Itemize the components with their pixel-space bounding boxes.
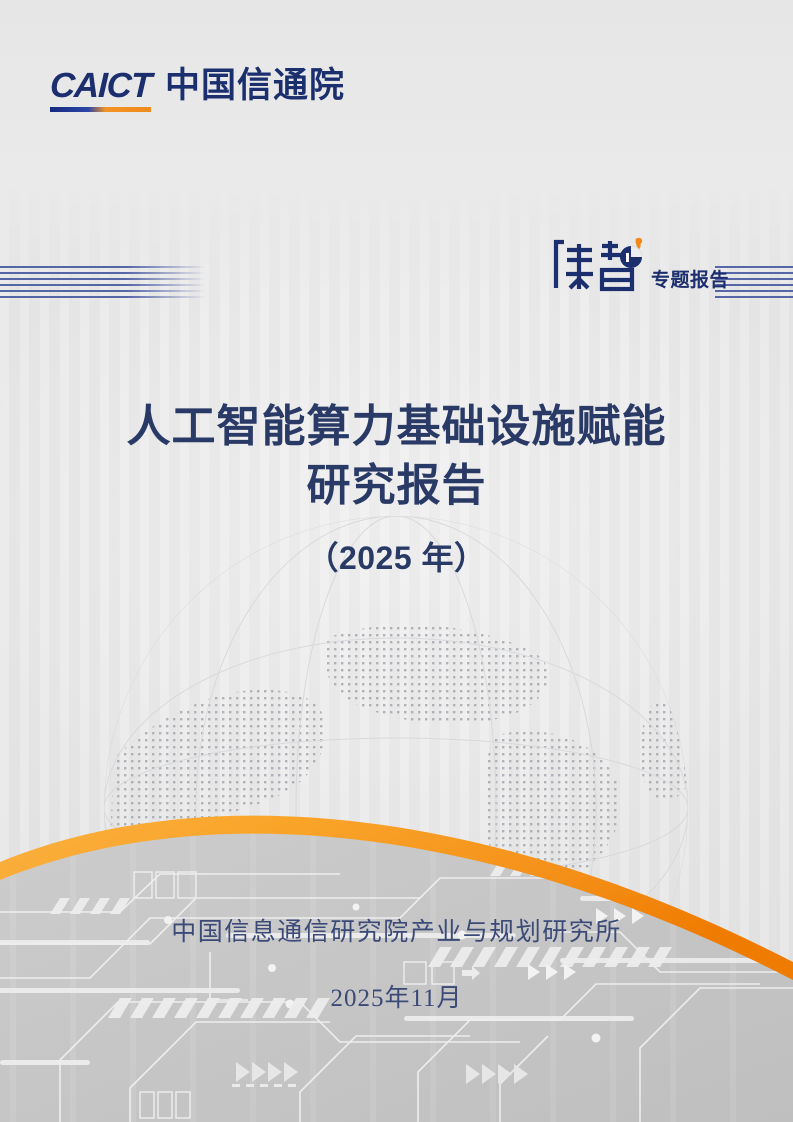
cover-page: CAICT 中国信通院 bbox=[0, 0, 793, 1122]
series-emblem: 专题报告 bbox=[552, 236, 729, 294]
footer-block: 中国信息通信研究院产业与规划研究所 2025年11月 bbox=[0, 912, 793, 1014]
band-lines-left bbox=[0, 266, 206, 302]
caict-acronym-text: CAICT bbox=[49, 68, 151, 103]
publication-date: 2025年11月 bbox=[0, 978, 793, 1014]
caict-logo: CAICT 中国信通院 bbox=[50, 68, 345, 112]
title-block: 人工智能算力基础设施赋能 研究报告 （2025 年） bbox=[0, 398, 793, 579]
page-title: 人工智能算力基础设施赋能 研究报告 bbox=[0, 398, 793, 515]
title-line-1: 人工智能算力基础设施赋能 bbox=[127, 402, 667, 451]
series-emblem-label: 专题报告 bbox=[651, 271, 729, 294]
title-year: （2025 年） bbox=[0, 533, 793, 579]
decorative-band-left bbox=[0, 266, 206, 302]
jizhi-mark-icon bbox=[552, 236, 644, 294]
caict-gradient-underline bbox=[50, 107, 151, 112]
caict-chinese-name: 中国信通院 bbox=[165, 68, 345, 112]
caict-acronym: CAICT bbox=[50, 68, 151, 112]
title-line-2: 研究报告 bbox=[307, 461, 487, 510]
publisher-department: 中国信息通信研究院产业与规划研究所 bbox=[0, 912, 793, 948]
